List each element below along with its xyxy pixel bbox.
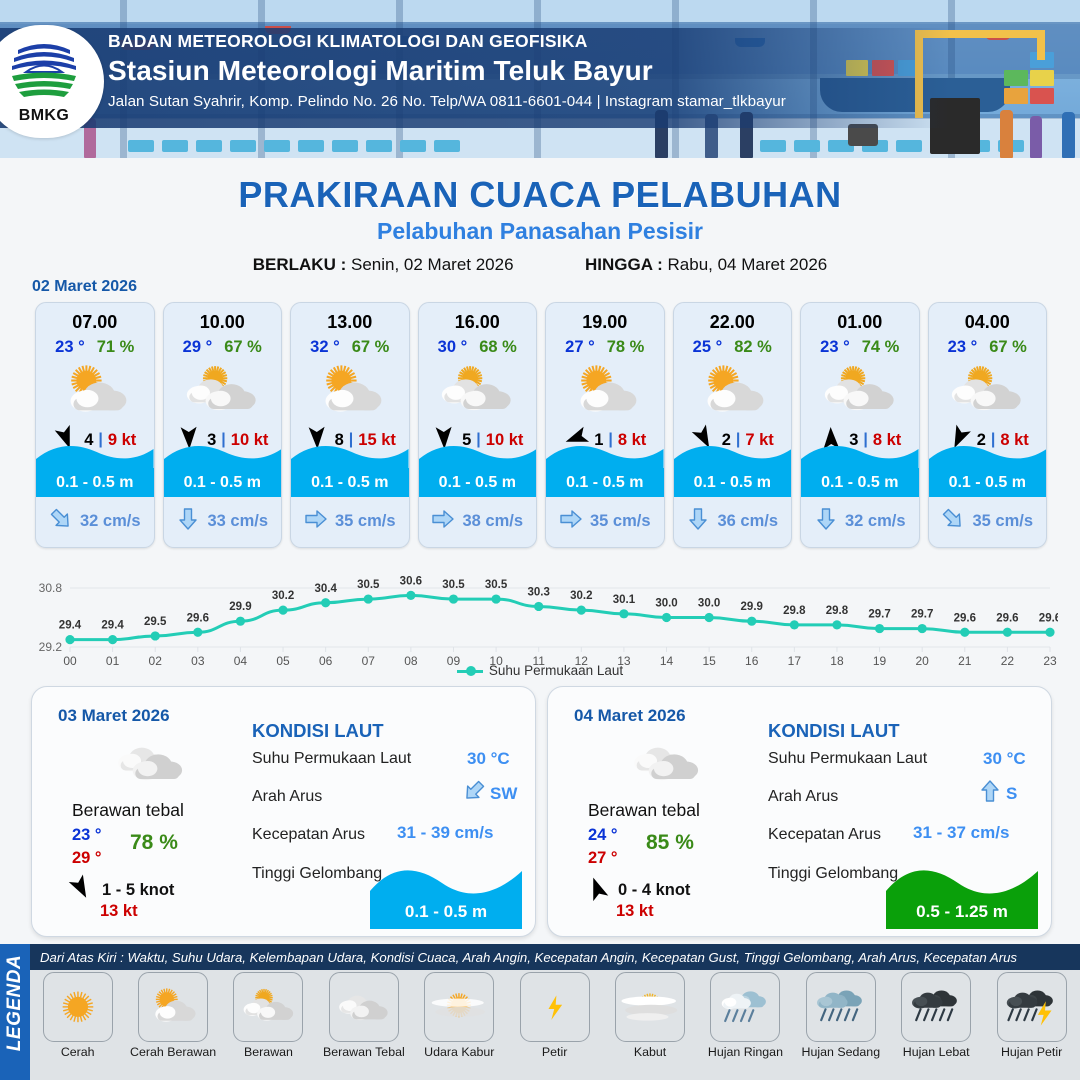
se-icon	[941, 507, 965, 536]
daily-panel: 03 Maret 2026 Berawan tebal 23 ° 29 ° 78…	[31, 686, 536, 937]
hourly-card: 04.00 23 ° 67 % 2 | 8 kt 0.1 - 0.5	[924, 302, 1052, 548]
svg-text:30.5: 30.5	[357, 579, 380, 591]
page-header: BMKG BADAN METEOROLOGI KLIMATOLOGI DAN G…	[0, 0, 1080, 158]
daily-wind-range: 1 - 5 knot	[102, 881, 174, 900]
svg-text:30.1: 30.1	[613, 594, 636, 606]
wave-height-band: 0.1 - 0.5 m	[164, 468, 282, 497]
card-temperature: 23 °	[55, 338, 85, 357]
wind-direction-arrow-icon	[584, 877, 610, 904]
svg-text:29.7: 29.7	[911, 609, 933, 621]
bmkg-emblem-icon	[6, 36, 82, 106]
legend-item-label: Berawan	[221, 1045, 316, 1059]
daily-gust: 13 kt	[100, 902, 138, 921]
e-icon	[431, 507, 455, 536]
legend-item-label: Hujan Sedang	[793, 1045, 888, 1059]
hujan-lebat-icon	[901, 972, 971, 1042]
current-speed: 35 cm/s	[335, 512, 396, 531]
value-current-dir: S	[1006, 784, 1017, 804]
current-direction-arrow-icon	[978, 779, 1002, 808]
hourly-card: 07.00 23 ° 71 % 4 | 9 kt 0.1 - 0.5 m	[31, 302, 159, 548]
chair	[434, 140, 460, 152]
chair	[366, 140, 392, 152]
berawan-tebal-icon	[110, 735, 194, 787]
berawan-tebal-icon	[329, 972, 399, 1042]
legend-item: Kabut	[602, 972, 697, 1059]
row-label-current-speed: Kecepatan Arus	[768, 826, 881, 844]
berawan-icon	[801, 360, 919, 422]
hourly-forecast-row: 07.00 23 ° 71 % 4 | 9 kt 0.1 - 0.5 m	[31, 302, 1051, 548]
hourly-card: 01.00 23 ° 74 % 3 | 8 kt 0.1 - 0.5	[796, 302, 924, 548]
svg-text:29.9: 29.9	[741, 601, 763, 613]
daily-temp-max: 27 °	[588, 849, 618, 868]
value-wave-height: 0.5 - 1.25 m	[886, 902, 1038, 922]
card-time: 19.00	[546, 303, 664, 333]
chair	[230, 140, 256, 152]
card-time: 07.00	[36, 303, 154, 333]
daily-wave-graphic: 0.5 - 1.25 m	[886, 855, 1038, 929]
berawan-icon	[929, 360, 1047, 422]
card-humidity: 71 %	[97, 338, 135, 357]
current-speed: 38 cm/s	[462, 512, 523, 531]
legend-item-label: Cerah Berawan	[125, 1045, 220, 1059]
wave-graphic: 0.1 - 0.5 m	[419, 443, 537, 497]
daily-wind-range: 0 - 4 knot	[618, 881, 690, 900]
wave-height-value: 0.1 - 0.5 m	[821, 474, 898, 492]
legend-band-title: LEGENDA	[4, 950, 26, 1056]
card-time: 10.00	[164, 303, 282, 333]
legend-item: Udara Kabur	[412, 972, 507, 1059]
berlaku-value: Senin, 02 Maret 2026	[351, 255, 514, 274]
current-speed: 32 cm/s	[845, 512, 906, 531]
card-humidity: 67 %	[352, 338, 390, 357]
hourly-card: 13.00 32 ° 67 % 8 | 15 kt 0.1 - 0.5 m	[286, 302, 414, 548]
berawan-icon	[164, 360, 282, 422]
legend-item: Petir	[507, 972, 602, 1059]
card-temperature: 29 °	[183, 338, 213, 357]
hujan-petir-icon	[997, 972, 1067, 1042]
chair	[162, 140, 188, 152]
card-current: 33 cm/s	[164, 501, 282, 541]
svg-text:29.5: 29.5	[144, 616, 167, 628]
svg-text:30.3: 30.3	[528, 586, 550, 598]
station-address: Jalan Sutan Syahrir, Komp. Pelindo No. 2…	[108, 93, 786, 110]
wave-graphic: 0.1 - 0.5 m	[164, 443, 282, 497]
svg-text:29.6: 29.6	[187, 612, 209, 624]
row-label-wave: Tinggi Gelombang	[252, 865, 382, 883]
wave-height-band: 0.1 - 0.5 m	[674, 468, 792, 497]
s-icon	[176, 507, 200, 536]
legend-item-label: Petir	[507, 1045, 602, 1059]
card-current: 35 cm/s	[546, 501, 664, 541]
daily-humidity: 85 %	[646, 831, 694, 855]
berawan-tebal-icon	[626, 735, 710, 787]
wave-height-band: 0.1 - 0.5 m	[801, 468, 919, 497]
chair	[896, 140, 922, 152]
page-subtitle: Pelabuhan Panasahan Pesisir	[0, 218, 1080, 245]
berlaku-label: BERLAKU :	[253, 255, 347, 274]
hujan-ringan-icon	[710, 972, 780, 1042]
sea-condition-title: KONDISI LAUT	[252, 720, 384, 742]
chair	[332, 140, 358, 152]
current-speed: 35 cm/s	[972, 512, 1033, 531]
cerah-berawan-icon	[138, 972, 208, 1042]
hourly-card: 10.00 29 ° 67 % 3 | 10 kt 0.1 - 0.	[159, 302, 287, 548]
svg-text:30.2: 30.2	[272, 590, 294, 602]
svg-text:29.8: 29.8	[826, 605, 849, 617]
value-current-dir: SW	[490, 784, 517, 804]
kabut-icon	[615, 972, 685, 1042]
value-wave-height: 0.1 - 0.5 m	[370, 902, 522, 922]
daily-wind: 0 - 4 knot	[584, 877, 690, 904]
cerah-berawan-icon	[674, 360, 792, 422]
wave-height-band: 0.1 - 0.5 m	[291, 468, 409, 497]
card-temperature: 30 °	[438, 338, 468, 357]
legend-item: Hujan Lebat	[889, 972, 984, 1059]
card-humidity: 74 %	[862, 338, 900, 357]
current-speed: 36 cm/s	[717, 512, 778, 531]
card-current: 32 cm/s	[801, 501, 919, 541]
legend-note: Dari Atas Kiri : Waktu, Suhu Udara, Kele…	[30, 944, 1080, 970]
svg-text:30.5: 30.5	[485, 579, 508, 591]
legend-item: Hujan Ringan	[698, 972, 793, 1059]
legend-section: LEGENDA Dari Atas Kiri : Waktu, Suhu Uda…	[0, 944, 1080, 1080]
value-current-dir-group: SW	[462, 779, 517, 808]
wind-direction-arrow-icon	[68, 877, 94, 904]
wave-height-band: 0.1 - 0.5 m	[546, 468, 664, 497]
svg-text:30.0: 30.0	[698, 598, 720, 610]
wave-height-value: 0.1 - 0.5 m	[566, 474, 643, 492]
s-icon	[686, 507, 710, 536]
row-label-current-speed: Kecepatan Arus	[252, 826, 365, 844]
wave-height-value: 0.1 - 0.5 m	[949, 474, 1026, 492]
wave-height-band: 0.1 - 0.5 m	[419, 468, 537, 497]
wave-graphic: 0.1 - 0.5 m	[291, 443, 409, 497]
hourly-card: 16.00 30 ° 68 % 5 | 10 kt 0.1 - 0.	[414, 302, 542, 548]
hingga-value: Rabu, 04 Maret 2026	[668, 255, 828, 274]
legend-item-label: Cerah	[30, 1045, 125, 1059]
daily-wind: 1 - 5 knot	[68, 877, 174, 904]
card-humidity: 78 %	[607, 338, 645, 357]
chair	[794, 140, 820, 152]
berawan-icon	[233, 972, 303, 1042]
legend-band: LEGENDA	[0, 944, 30, 1080]
value-current-dir-group: S	[978, 779, 1017, 808]
daily-gust: 13 kt	[616, 902, 654, 921]
daily-temp-min: 23 °	[72, 826, 102, 845]
row-label-current-dir: Arah Arus	[252, 788, 322, 806]
wave-graphic: 0.1 - 0.5 m	[674, 443, 792, 497]
svg-text:29.9: 29.9	[229, 601, 251, 613]
legend-item: Berawan Tebal	[316, 972, 411, 1059]
card-current: 35 cm/s	[929, 501, 1047, 541]
e-icon	[304, 507, 328, 536]
card-humidity: 67 %	[989, 338, 1027, 357]
legend-item: Cerah	[30, 972, 125, 1059]
svg-text:30.8: 30.8	[39, 581, 63, 595]
hourly-card: 19.00 27 ° 78 % 1 | 8 kt 0.1 - 0.5 m	[541, 302, 669, 548]
legend-item-label: Berawan Tebal	[316, 1045, 411, 1059]
svg-text:30.2: 30.2	[570, 590, 592, 602]
legend-item-label: Hujan Petir	[984, 1045, 1079, 1059]
daily-wave-graphic: 0.1 - 0.5 m	[370, 855, 522, 929]
wave-graphic: 0.1 - 0.5 m	[546, 443, 664, 497]
validity-row: BERLAKU : Senin, 02 Maret 2026 HINGGA : …	[0, 255, 1080, 275]
card-temperature: 27 °	[565, 338, 595, 357]
daily-date: 04 Maret 2026	[574, 706, 686, 726]
legend-item-label: Hujan Ringan	[698, 1045, 793, 1059]
svg-text:29.2: 29.2	[39, 640, 63, 654]
cerah-icon	[43, 972, 113, 1042]
value-sst: 30 °C	[983, 749, 1026, 769]
svg-text:29.6: 29.6	[1039, 612, 1058, 624]
daily-date: 03 Maret 2026	[58, 706, 170, 726]
e-icon	[559, 507, 583, 536]
cerah-berawan-icon	[36, 360, 154, 422]
chair	[128, 140, 154, 152]
wave-graphic: 0.1 - 0.5 m	[36, 443, 154, 497]
row-label-sst: Suhu Permukaan Laut	[252, 750, 411, 768]
card-time: 13.00	[291, 303, 409, 333]
chair	[760, 140, 786, 152]
legend-item: Hujan Sedang	[793, 972, 888, 1059]
legend-item-label: Hujan Lebat	[889, 1045, 984, 1059]
chair	[264, 140, 290, 152]
hourly-date-label: 02 Maret 2026	[32, 278, 137, 296]
legend-label: Suhu Permukaan Laut	[489, 663, 623, 678]
berawan-icon	[419, 360, 537, 422]
cerah-berawan-icon	[546, 360, 664, 422]
card-current: 36 cm/s	[674, 501, 792, 541]
legend-item: Cerah Berawan	[125, 972, 220, 1059]
card-temperature: 25 °	[693, 338, 723, 357]
svg-text:30.0: 30.0	[655, 598, 677, 610]
hourly-card: 22.00 25 ° 82 % 2 | 7 kt 0.1 - 0.5 m	[669, 302, 797, 548]
svg-text:29.7: 29.7	[868, 609, 890, 621]
chart-legend: Suhu Permukaan Laut	[0, 663, 1080, 678]
legend-marker-icon	[457, 670, 483, 673]
svg-text:30.5: 30.5	[442, 579, 465, 591]
legend-item-label: Kabut	[602, 1045, 697, 1059]
page-title: PRAKIRAAN CUACA PELABUHAN	[0, 174, 1080, 216]
chair	[400, 140, 426, 152]
wave-height-band: 0.1 - 0.5 m	[36, 468, 154, 497]
current-speed: 32 cm/s	[80, 512, 141, 531]
value-current-speed: 31 - 37 cm/s	[913, 823, 1009, 843]
sea-condition-title: KONDISI LAUT	[768, 720, 900, 742]
bmkg-logo-text: BMKG	[19, 107, 69, 125]
legend-item: Berawan	[221, 972, 316, 1059]
header-text-block: BADAN METEOROLOGI KLIMATOLOGI DAN GEOFIS…	[108, 32, 786, 110]
cerah-berawan-icon	[291, 360, 409, 422]
se-icon	[49, 507, 73, 536]
card-time: 16.00	[419, 303, 537, 333]
legend-item: Hujan Petir	[984, 972, 1079, 1059]
wave-height-value: 0.1 - 0.5 m	[56, 474, 133, 492]
wave-height-value: 0.1 - 0.5 m	[184, 474, 261, 492]
hingga-label: HINGGA :	[585, 255, 663, 274]
s-icon	[814, 507, 838, 536]
current-direction-arrow-icon	[462, 779, 486, 808]
wave-height-value: 0.1 - 0.5 m	[439, 474, 516, 492]
current-speed: 35 cm/s	[590, 512, 651, 531]
petir-icon	[520, 972, 590, 1042]
card-current: 38 cm/s	[419, 501, 537, 541]
svg-text:30.6: 30.6	[400, 575, 422, 587]
daily-condition: Berawan tebal	[588, 800, 700, 821]
value-sst: 30 °C	[467, 749, 510, 769]
card-time: 01.00	[801, 303, 919, 333]
svg-text:29.6: 29.6	[954, 612, 976, 624]
row-label-current-dir: Arah Arus	[768, 788, 838, 806]
row-label-wave: Tinggi Gelombang	[768, 865, 898, 883]
card-time: 22.00	[674, 303, 792, 333]
card-humidity: 68 %	[479, 338, 517, 357]
svg-text:29.6: 29.6	[996, 612, 1018, 624]
wave-graphic: 0.1 - 0.5 m	[929, 443, 1047, 497]
chair	[196, 140, 222, 152]
daily-temp-min: 24 °	[588, 826, 618, 845]
svg-text:29.8: 29.8	[783, 605, 806, 617]
svg-text:29.4: 29.4	[59, 620, 82, 632]
svg-text:29.4: 29.4	[101, 620, 124, 632]
card-time: 04.00	[929, 303, 1047, 333]
card-humidity: 82 %	[734, 338, 772, 357]
current-speed: 33 cm/s	[207, 512, 268, 531]
wave-graphic: 0.1 - 0.5 m	[801, 443, 919, 497]
daily-panel: 04 Maret 2026 Berawan tebal 24 ° 27 ° 85…	[547, 686, 1052, 937]
udara-kabur-icon	[424, 972, 494, 1042]
legend-items: Cerah Cerah Berawan Berawan Berawan Teba…	[30, 972, 1080, 1059]
agency-name: BADAN METEOROLOGI KLIMATOLOGI DAN GEOFIS…	[108, 32, 786, 51]
daily-humidity: 78 %	[130, 831, 178, 855]
wave-height-value: 0.1 - 0.5 m	[694, 474, 771, 492]
card-temperature: 32 °	[310, 338, 340, 357]
daily-condition: Berawan tebal	[72, 800, 184, 821]
chair	[298, 140, 324, 152]
card-current: 35 cm/s	[291, 501, 409, 541]
card-temperature: 23 °	[948, 338, 978, 357]
card-current: 32 cm/s	[36, 501, 154, 541]
daily-temp-max: 29 °	[72, 849, 102, 868]
legend-item-label: Udara Kabur	[412, 1045, 507, 1059]
wave-height-value: 0.1 - 0.5 m	[311, 474, 388, 492]
station-name: Stasiun Meteorologi Maritim Teluk Bayur	[108, 55, 786, 86]
card-temperature: 23 °	[820, 338, 850, 357]
wave-height-band: 0.1 - 0.5 m	[929, 468, 1047, 497]
hujan-sedang-icon	[806, 972, 876, 1042]
svg-text:30.4: 30.4	[314, 583, 337, 595]
card-humidity: 67 %	[224, 338, 262, 357]
row-label-sst: Suhu Permukaan Laut	[768, 750, 927, 768]
value-current-speed: 31 - 39 cm/s	[397, 823, 493, 843]
